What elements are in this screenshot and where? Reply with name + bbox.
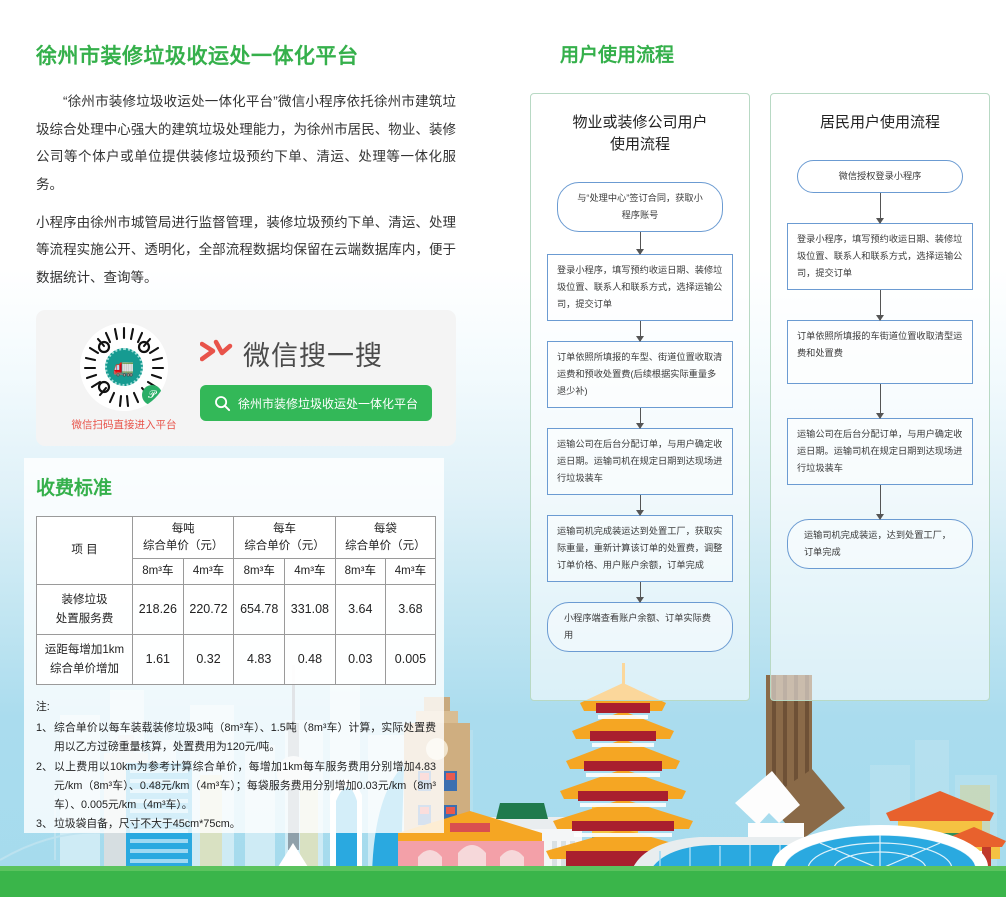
flow-node[interactable]: 微信授权登录小程序	[797, 160, 963, 193]
cell-1-1: 0.32	[183, 635, 234, 685]
flow-title: 用户使用流程	[560, 40, 990, 67]
wechat-search-button[interactable]: 徐州市装修垃圾收运处一体化平台	[200, 385, 432, 421]
table-row: 运距每增加1km综合单价增加 1.61 0.32 4.83 0.48 0.03 …	[37, 635, 436, 685]
page-title: 徐州市装修垃圾收运处一体化平台	[36, 40, 456, 70]
cell-0-0: 218.26	[133, 585, 184, 635]
magnifier-icon	[214, 395, 231, 412]
wechat-search-label: 徐州市装修垃圾收运处一体化平台	[238, 395, 418, 412]
qr-section: 🚛 𝒫 微信扫码直接进入平台	[54, 323, 194, 432]
cell-0-2: 654.78	[234, 585, 285, 635]
fee-table: 项 目 每吨综合单价（元） 每车综合单价（元） 每袋综合单价（元） 8m³车 4…	[36, 516, 436, 685]
row-label-0: 装修垃圾处置服务费	[37, 585, 133, 635]
flow-node[interactable]: 运输公司在后台分配订单，与用户确定收运日期。运输司机在规定日期到达现场进行垃圾装…	[787, 418, 973, 485]
subheader-0: 8m³车	[133, 559, 184, 585]
cell-1-3: 0.48	[285, 635, 336, 685]
mini-program-icon: 𝒫	[142, 385, 162, 405]
cell-0-4: 3.64	[335, 585, 385, 635]
cell-1-5: 0.005	[385, 635, 435, 685]
fee-notes: 注: 1、 综合单价以每车装载装修垃圾3吨（8m³车）、1.5吨（8m³车）计算…	[36, 698, 436, 834]
header-group-per-vehicle: 每车综合单价（元）	[234, 517, 335, 559]
flow-arrow	[640, 495, 641, 515]
flow-arrow	[640, 321, 641, 341]
qr-caption: 微信扫码直接进入平台	[72, 417, 177, 432]
table-header-row-1: 项 目 每吨综合单价（元） 每车综合单价（元） 每袋综合单价（元）	[37, 517, 436, 559]
flow-arrow	[880, 193, 881, 223]
sogou-star-icon	[200, 339, 234, 369]
table-row: 装修垃圾处置服务费 218.26 220.72 654.78 331.08 3.…	[37, 585, 436, 635]
flow-arrow	[880, 384, 881, 418]
header-item: 项 目	[37, 517, 133, 585]
subheader-1: 4m³车	[183, 559, 234, 585]
flow-arrow	[880, 485, 881, 519]
flow-node[interactable]: 小程序端查看账户余额、订单实际费用	[547, 602, 733, 652]
subheader-3: 4m³车	[285, 559, 336, 585]
subheader-5: 4m³车	[385, 559, 435, 585]
flow-panel-resident-heading: 居民用户使用流程	[783, 112, 977, 134]
garbage-truck-icon: 🚛	[105, 348, 143, 386]
flow-panel-company: 物业或装修公司用户使用流程 与“处理中心”签订合同，获取小程序账号 登录小程序，…	[530, 93, 750, 701]
flow-panel-resident: 居民用户使用流程 微信授权登录小程序 登录小程序，填写预约收运日期、装修垃圾位置…	[770, 93, 990, 701]
note-item: 2、 以上费用以10km为参考计算综合单价，每增加1km每车服务费用分别增加4.…	[36, 758, 436, 816]
flow-panels: 物业或装修公司用户使用流程 与“处理中心”签订合同，获取小程序账号 登录小程序，…	[530, 93, 990, 701]
note-number: 3、	[36, 815, 54, 834]
header-group-per-bag: 每袋综合单价（元）	[335, 517, 435, 559]
wechat-promo-box: 🚛 𝒫 微信扫码直接进入平台 微信搜一搜 徐州市装修垃圾收运处一体化平台	[36, 310, 456, 446]
subheader-4: 8m³车	[335, 559, 385, 585]
flow-node[interactable]: 运输司机完成装运，达到处置工厂，订单完成	[787, 519, 973, 569]
flow-node[interactable]: 与“处理中心”签订合同，获取小程序账号	[557, 182, 723, 232]
note-text: 以上费用以10km为参考计算综合单价，每增加1km每车服务费用分别增加4.83元…	[54, 758, 436, 816]
flow-arrow	[640, 232, 641, 254]
row-label-1: 运距每增加1km综合单价增加	[37, 635, 133, 685]
fee-standard-section: 收费标准 项 目 每吨综合单价（元） 每车综合单价（元） 每袋综合单价（元） 8…	[36, 473, 456, 834]
wechat-brand-row: 微信搜一搜	[200, 334, 432, 373]
note-item: 1、 综合单价以每车装载装修垃圾3吨（8m³车）、1.5吨（8m³车）计算，实际…	[36, 719, 436, 757]
note-number: 2、	[36, 758, 54, 816]
flow-column: 用户使用流程 物业或装修公司用户使用流程 与“处理中心”签订合同，获取小程序账号…	[530, 40, 990, 701]
cell-0-5: 3.68	[385, 585, 435, 635]
subheader-2: 8m³车	[234, 559, 285, 585]
flow-node[interactable]: 订单依照所填报的车街道位置收取清型运费和处置费	[787, 320, 973, 384]
flow-node[interactable]: 运输司机完成装运达到处置工厂，获取实际重量，重新计算该订单的处置费，调整订单价格…	[547, 515, 733, 582]
flow-arrow	[640, 582, 641, 602]
cell-1-4: 0.03	[335, 635, 385, 685]
cell-1-2: 4.83	[234, 635, 285, 685]
fee-title: 收费标准	[36, 473, 456, 500]
notes-header: 注:	[36, 698, 436, 717]
note-text: 综合单价以每车装载装修垃圾3吨（8m³车）、1.5吨（8m³车）计算，实际处置费…	[54, 719, 436, 757]
wechat-search-brand: 微信搜一搜	[243, 334, 383, 373]
intro-paragraph-2: 小程序由徐州市城管局进行监督管理，装修垃圾预约下单、清运、处理等流程实施公开、透…	[36, 209, 456, 292]
flow-panel-company-heading: 物业或装修公司用户使用流程	[543, 112, 737, 156]
flow-node[interactable]: 订单依照所填报的车型、街道位置收取清运费和预收处置费(后续根据实际重量多退少补)	[547, 341, 733, 408]
qr-code-icon[interactable]: 🚛 𝒫	[80, 323, 168, 411]
grass-strip	[0, 871, 1006, 897]
intro-paragraph-1: “徐州市装修垃圾收运处一体化平台”微信小程序依托徐州市建筑垃圾综合处理中心强大的…	[36, 88, 456, 199]
flow-arrow	[880, 290, 881, 320]
header-group-per-ton: 每吨综合单价（元）	[133, 517, 234, 559]
flow-node[interactable]: 登录小程序，填写预约收运日期、装修垃圾位置、联系人和联系方式，选择运输公司，提交…	[787, 223, 973, 290]
flow-arrow	[640, 408, 641, 428]
flow-node[interactable]: 运输公司在后台分配订单，与用户确定收运日期。运输司机在规定日期到达现场进行垃圾装…	[547, 428, 733, 495]
note-item: 3、 垃圾袋自备，尺寸不大于45cm*75cm。	[36, 815, 436, 834]
cell-1-0: 1.61	[133, 635, 184, 685]
wechat-search-section: 微信搜一搜 徐州市装修垃圾收运处一体化平台	[200, 334, 432, 421]
intro-column: 徐州市装修垃圾收运处一体化平台 “徐州市装修垃圾收运处一体化平台”微信小程序依托…	[36, 40, 456, 446]
flow-node[interactable]: 登录小程序，填写预约收运日期、装修垃圾位置、联系人和联系方式，选择运输公司，提交…	[547, 254, 733, 321]
cell-0-1: 220.72	[183, 585, 234, 635]
note-text: 垃圾袋自备，尺寸不大于45cm*75cm。	[54, 815, 436, 834]
cell-0-3: 331.08	[285, 585, 336, 635]
note-number: 1、	[36, 719, 54, 757]
